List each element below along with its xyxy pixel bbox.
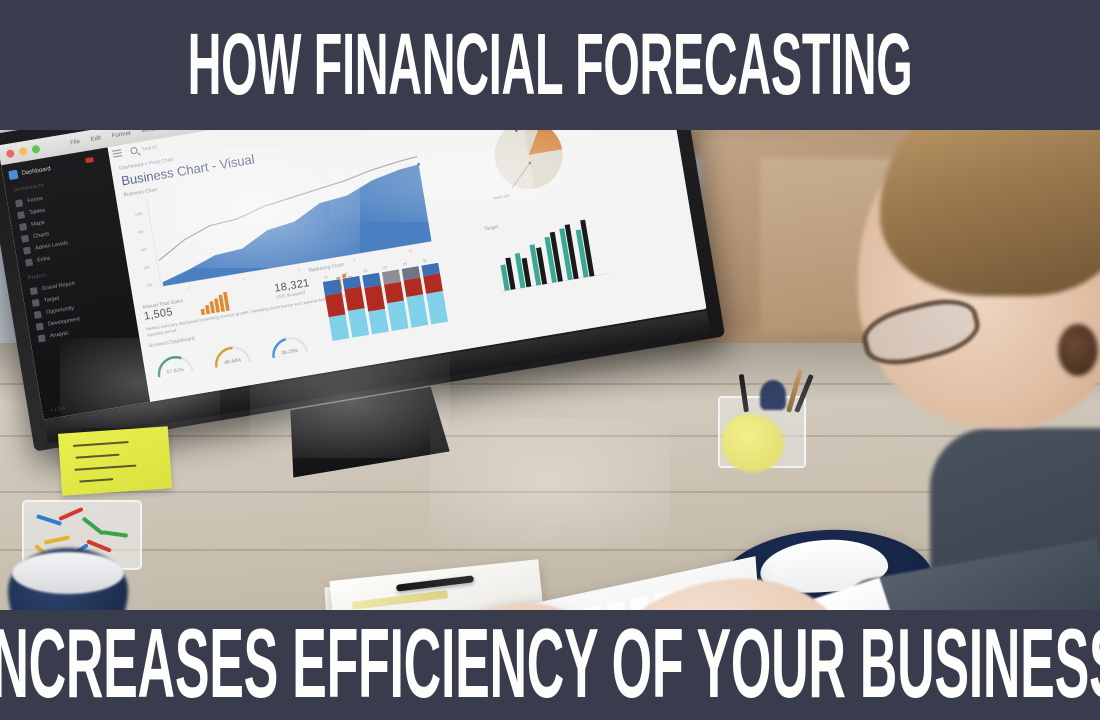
search-input[interactable]: Search [141, 144, 158, 153]
sidebar-item-label: Maps [31, 220, 45, 228]
development-icon [36, 322, 44, 330]
mug-rim [12, 552, 124, 594]
menu-item-format[interactable]: Format [111, 130, 131, 139]
maps-icon [19, 222, 27, 230]
gauge-3-value: 38.29% [281, 347, 299, 356]
extra-icon [25, 258, 33, 266]
person-ear [1058, 324, 1098, 376]
kpi-annual-sales: Annual Total Sales 1,505 [142, 298, 186, 323]
minimize-button[interactable] [19, 147, 28, 156]
scissors [760, 380, 786, 410]
svg-text:6: 6 [298, 267, 301, 271]
svg-text:Q5: Q5 [403, 262, 408, 267]
gauge-2-value: 45.44% [224, 357, 242, 366]
sticky-note [58, 426, 172, 496]
search-box[interactable]: Search [130, 143, 158, 154]
svg-text:Q4: Q4 [383, 265, 388, 270]
close-button[interactable] [6, 149, 15, 158]
top-headline: HOW FINANCIAL FORECASTING [188, 25, 913, 105]
forms-icon [15, 199, 23, 207]
menu-item-file[interactable]: File [70, 139, 81, 147]
tables-icon [17, 211, 25, 219]
sidebar-brand-label: Dashboard [21, 166, 51, 177]
sidebar-item-label: Forms [27, 196, 43, 204]
search-icon [130, 147, 138, 155]
sidebar-item-label: Extra [37, 255, 51, 263]
svg-text:2: 2 [188, 286, 191, 290]
top-banner: HOW FINANCIAL FORECASTING [0, 0, 1100, 130]
svg-text:Q2: Q2 [343, 271, 348, 276]
svg-text:40k: 40k [144, 265, 150, 270]
bottom-headline: INCREASES EFFICIENCY OF YOUR BUSINESS [0, 620, 1100, 710]
charts-icon [21, 234, 29, 242]
sidebar-item-label: Target [44, 296, 60, 304]
svg-text:60k: 60k [141, 247, 147, 252]
sidebar-version: v 1.0.4 [50, 405, 66, 413]
gauge-2: 45.44% [207, 337, 255, 370]
report-icon [30, 287, 38, 295]
svg-text:4: 4 [243, 277, 246, 281]
page-root: HOW FINANCIAL FORECASTING [0, 0, 1100, 720]
maximize-button[interactable] [31, 145, 40, 154]
svg-text:Q6: Q6 [422, 258, 427, 263]
gauge-1-value: 67.81% [167, 366, 185, 375]
opportunity-icon [34, 310, 42, 318]
pie-chart-svg: North 46% South 32% [465, 128, 609, 210]
svg-text:Q3: Q3 [363, 268, 368, 273]
menu-item-edit[interactable]: Edit [90, 135, 101, 143]
svg-text:100k: 100k [135, 212, 143, 217]
hamburger-icon[interactable] [112, 149, 122, 157]
sidebar-item-label: Analytic [50, 330, 70, 339]
target-icon [32, 298, 40, 306]
sidebar-item-label: Tables [29, 208, 46, 217]
yellow-crumpled-paper [722, 414, 784, 472]
bottom-banner: INCREASES EFFICIENCY OF YOUR BUSINESS [0, 610, 1100, 720]
svg-text:Q1: Q1 [324, 275, 329, 280]
svg-text:South 32%: South 32% [493, 194, 510, 201]
analytic-icon [38, 334, 46, 342]
gauge-1: 67.81% [150, 347, 198, 380]
person-hair [880, 128, 1100, 296]
svg-text:20k: 20k [147, 283, 153, 288]
kpi-gross-revenue: 18,321 USD thousand [274, 277, 312, 300]
photo-scene: File Edit Format Window Help Dashbo [0, 128, 1100, 612]
svg-text:80k: 80k [138, 230, 144, 235]
sidebar-item-label: Charts [33, 231, 50, 240]
admin-icon [23, 246, 31, 254]
app-logo-icon [8, 170, 18, 180]
gauge-3: 38.29% [265, 327, 313, 360]
